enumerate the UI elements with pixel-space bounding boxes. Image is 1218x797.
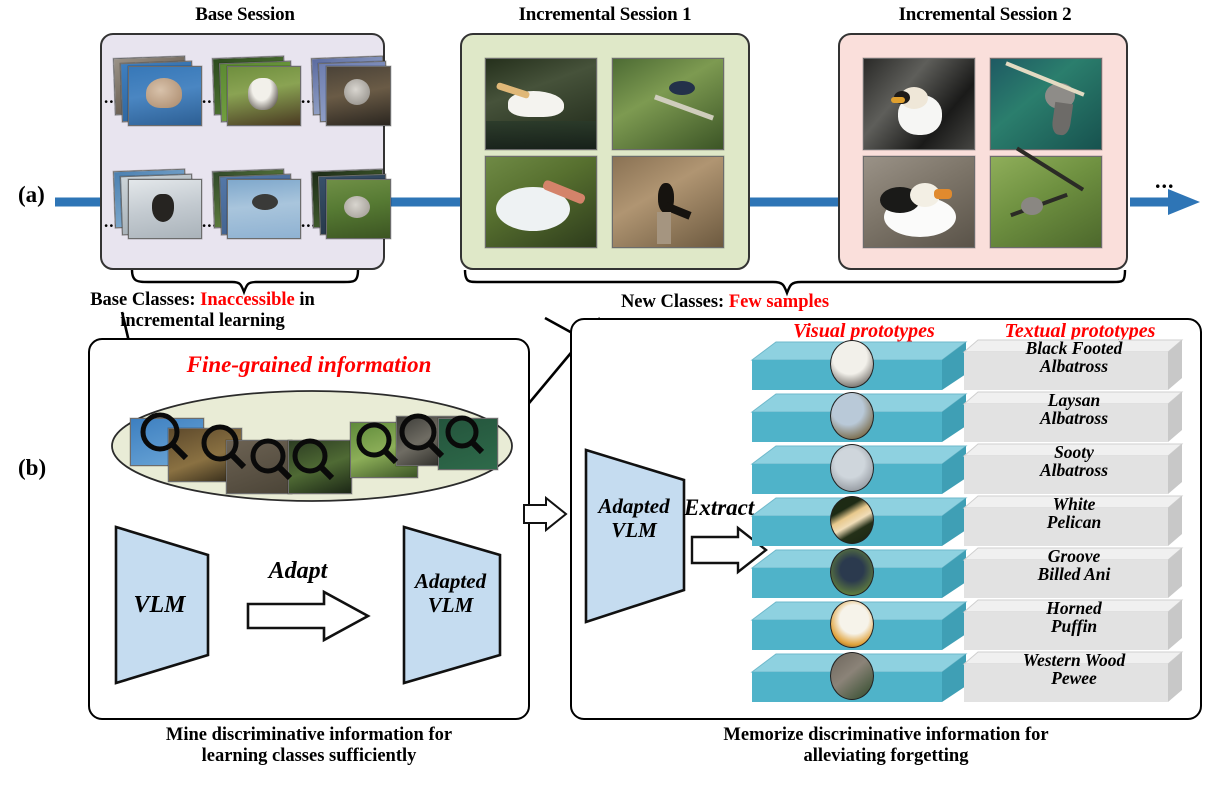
textual-prototype-label: White Pelican (962, 496, 1186, 532)
panel-a-label: (a) (18, 182, 45, 208)
textual-prototype-label: Sooty Albatross (962, 444, 1186, 480)
image-card (485, 58, 597, 150)
textual-prototype-label: Western Wood Pewee (962, 652, 1186, 688)
right-panel-caption-line2: alleviating forgetting (804, 746, 969, 766)
image-card-bird (344, 79, 370, 105)
prototype-row: Laysan Albatross (750, 392, 1200, 442)
magnifying-glass-icon (402, 416, 442, 456)
image-card (612, 58, 724, 150)
adapted-vlm-line2: VLM (428, 593, 474, 617)
prototype-row: Western Wood Pewee (750, 652, 1200, 702)
proto-text-line2: Albatross (1040, 460, 1108, 480)
textual-prototype-label: Black Footed Albatross (962, 340, 1186, 376)
image-card-bird (344, 196, 370, 218)
incremental-session-1-title: Incremental Session 1 (455, 4, 755, 26)
visual-prototype-image (830, 496, 874, 544)
left-panel-caption: Mine discriminative information for lear… (88, 725, 530, 767)
prototype-row: Black Footed Albatross (750, 340, 1200, 390)
image-card-bird (146, 78, 182, 108)
adapted-vlm-right-line2: VLM (611, 518, 657, 542)
textual-prototype-label: Horned Puffin (962, 600, 1186, 636)
proto-text-line2: Puffin (1051, 616, 1097, 636)
magnifying-glass-icon (204, 427, 244, 467)
image-card-bird (152, 194, 174, 222)
proto-text-line2: Pelican (1047, 512, 1101, 532)
adapted-vlm-right-line1: Adapted (598, 494, 669, 518)
magnifying-glass-icon (359, 425, 396, 462)
image-card (612, 156, 724, 248)
magnifying-glass-icon (448, 418, 482, 452)
base-session-row-1: ... ... ... (100, 33, 385, 153)
fine-grained-image-strip (110, 388, 514, 504)
textual-prototype-label: Groove Billed Ani (962, 548, 1186, 584)
adapted-vlm-label-right: Adapted VLM (580, 495, 688, 542)
proto-text-line2: Pewee (1051, 668, 1097, 688)
image-card-bird (248, 78, 278, 110)
left-panel-caption-line2: learning classes sufficiently (202, 746, 417, 766)
visual-prototype-image (830, 340, 874, 388)
adapt-arrow (244, 590, 374, 650)
visual-prototype-image (830, 600, 874, 648)
base-session-title: Base Session (100, 4, 390, 26)
panel-connector-arrow (522, 495, 570, 533)
left-panel-caption-line1: Mine discriminative information for (166, 725, 452, 745)
prototype-row: Groove Billed Ani (750, 548, 1200, 598)
proto-text-line2: Albatross (1040, 408, 1108, 428)
image-card (990, 156, 1102, 248)
image-card-bird (252, 194, 278, 210)
visual-prototype-image (830, 548, 874, 596)
prototype-row: White Pelican (750, 496, 1200, 546)
prototype-row: Horned Puffin (750, 600, 1200, 650)
image-card (990, 58, 1102, 150)
prototype-row: Sooty Albatross (750, 444, 1200, 494)
visual-prototype-image (830, 444, 874, 492)
vlm-label: VLM (112, 592, 207, 619)
image-card (485, 156, 597, 248)
incremental-session-2-title: Incremental Session 2 (830, 4, 1140, 26)
right-panel-caption-line1: Memorize discriminative information for (723, 725, 1048, 745)
magnifying-glass-icon (143, 415, 186, 458)
adapted-vlm-line1: Adapted (415, 569, 486, 593)
proto-text-line2: Billed Ani (1038, 564, 1111, 584)
adapt-label: Adapt (248, 558, 348, 585)
visual-prototype-image (830, 392, 874, 440)
right-panel-caption: Memorize discriminative information for … (570, 725, 1202, 767)
base-session-row-2: ... ... ... (100, 150, 385, 270)
image-card (863, 156, 975, 248)
textual-prototype-label: Laysan Albatross (962, 392, 1186, 428)
proto-text-line2: Albatross (1040, 356, 1108, 376)
adapted-vlm-label-left: Adapted VLM (398, 570, 503, 617)
visual-prototype-image (830, 652, 874, 700)
magnifying-glass-icon (253, 441, 290, 478)
image-card (863, 58, 975, 150)
fine-grained-headline: Fine-grained information (88, 352, 530, 378)
incremental-session-1-images (460, 33, 750, 270)
timeline-ellipsis: ... (1155, 168, 1175, 194)
magnifying-glass-icon (295, 441, 332, 478)
incremental-session-2-images (838, 33, 1128, 270)
